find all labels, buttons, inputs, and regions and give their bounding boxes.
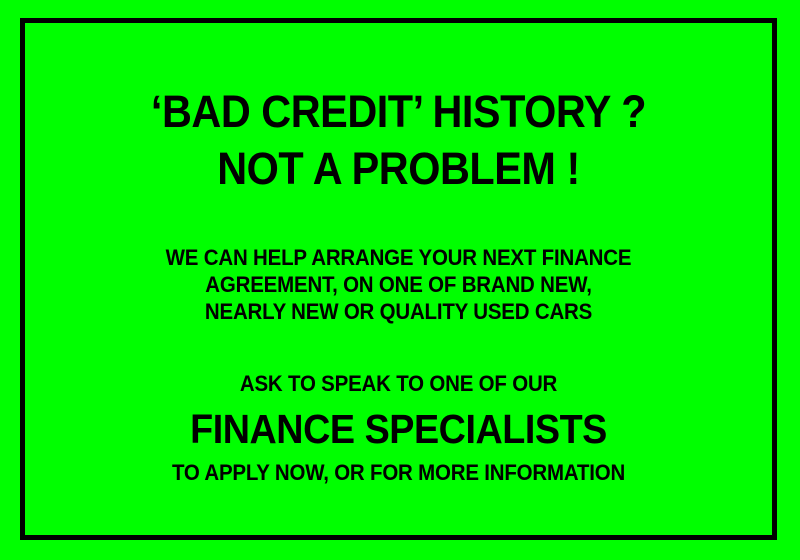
finance-specialists-subhead: FINANCE SPECIALISTS bbox=[55, 405, 742, 453]
paragraph-spacer bbox=[25, 325, 772, 370]
paragraph-line-3: NEARLY NEW OR QUALITY USED CARS bbox=[51, 298, 746, 325]
headline-line-2: NOT A PROBLEM ! bbox=[55, 140, 742, 197]
paragraph-line-1: WE CAN HELP ARRANGE YOUR NEXT FINANCE bbox=[51, 244, 746, 271]
poster-content: ‘BAD CREDIT’ HISTORY ? NOT A PROBLEM ! W… bbox=[25, 23, 772, 486]
call-to-action-intro: ASK TO SPEAK TO ONE OF OUR bbox=[51, 370, 746, 397]
advertisement-poster: ‘BAD CREDIT’ HISTORY ? NOT A PROBLEM ! W… bbox=[0, 0, 800, 560]
paragraph-line-2: AGREEMENT, ON ONE OF BRAND NEW, bbox=[51, 271, 746, 298]
headline-line-1: ‘BAD CREDIT’ HISTORY ? bbox=[55, 83, 742, 140]
call-to-action-closing: TO APPLY NOW, OR FOR MORE INFORMATION bbox=[51, 459, 746, 486]
